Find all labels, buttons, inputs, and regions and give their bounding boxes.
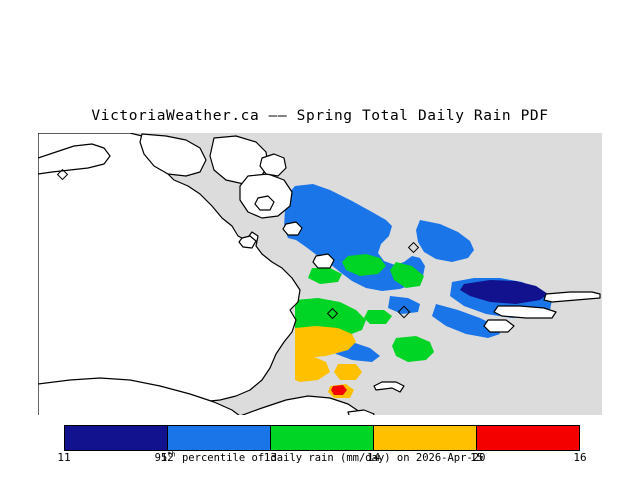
colorbar-segment-orange <box>374 426 477 450</box>
colorbar-caption: 95th percentile of daily rain (mm/day) o… <box>0 452 640 464</box>
page-title: VictoriaWeather.ca —— Spring Total Daily… <box>0 108 640 124</box>
colorbar-segment-navy <box>65 426 168 450</box>
colorbar-segment-red <box>477 426 579 450</box>
map-svg <box>0 128 640 418</box>
caption-text: percentile of daily rain (mm/day) on 202… <box>176 452 486 464</box>
caption-value: 95 <box>155 452 168 464</box>
colorbar-segment-green <box>271 426 374 450</box>
colorbar-block: 111213141516 <box>0 420 640 480</box>
region-small-orange-island <box>334 364 362 380</box>
colorbar <box>64 425 580 451</box>
land-islet-4 <box>313 254 334 268</box>
caption-superscript: th <box>167 451 175 459</box>
weather-map-page: VictoriaWeather.ca —— Spring Total Daily… <box>0 0 640 480</box>
map-canvas <box>0 128 640 418</box>
colorbar-segment-blue <box>168 426 271 450</box>
